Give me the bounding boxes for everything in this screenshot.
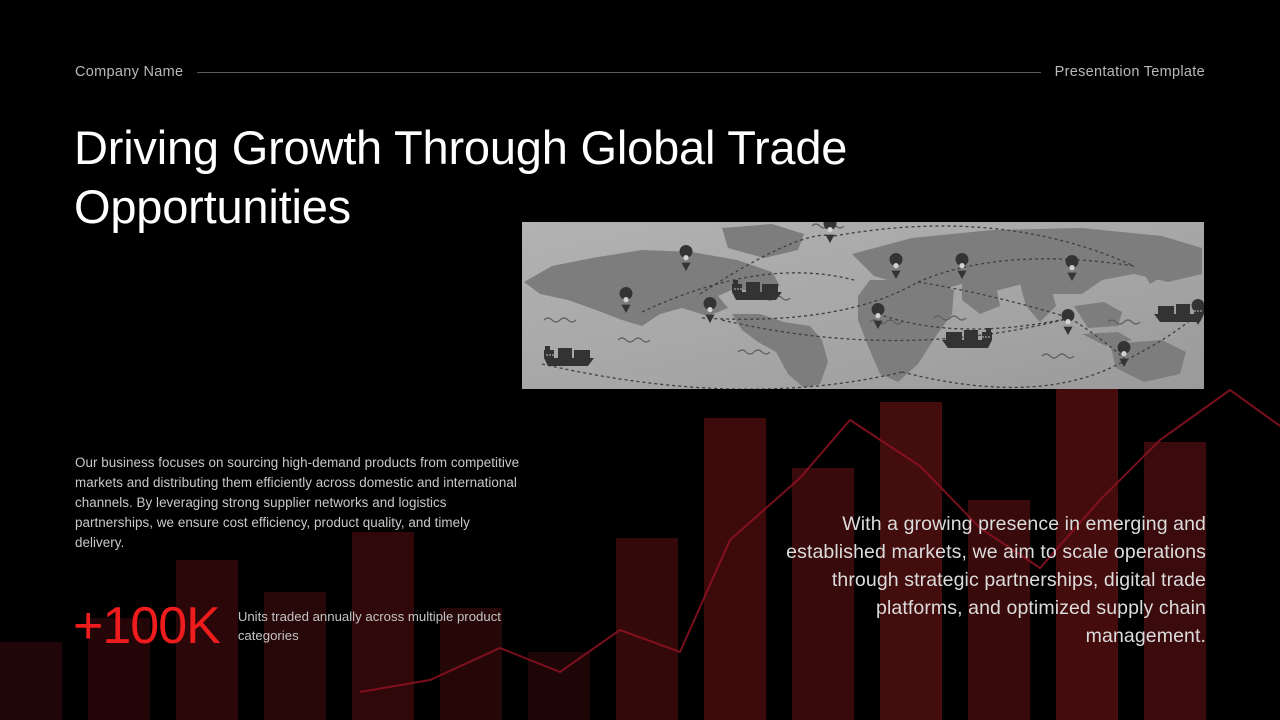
presentation-slide: Company Name Presentation Template Drivi… — [0, 0, 1280, 720]
statistic-block: +100K Units traded annually across multi… — [73, 598, 573, 654]
page-title: Driving Growth Through Global Trade Oppo… — [74, 118, 974, 236]
slide-header: Company Name Presentation Template — [75, 60, 1205, 84]
world-trade-route-map — [522, 222, 1204, 389]
template-label: Presentation Template — [1055, 64, 1205, 80]
statistic-value: +100K — [73, 598, 220, 654]
statistic-label: Units traded annually across multiple pr… — [238, 607, 563, 645]
company-name-label: Company Name — [75, 64, 183, 80]
left-description-paragraph: Our business focuses on sourcing high-de… — [75, 453, 520, 553]
header-divider-rule — [197, 72, 1040, 73]
right-description-paragraph: With a growing presence in emerging and … — [754, 510, 1206, 650]
